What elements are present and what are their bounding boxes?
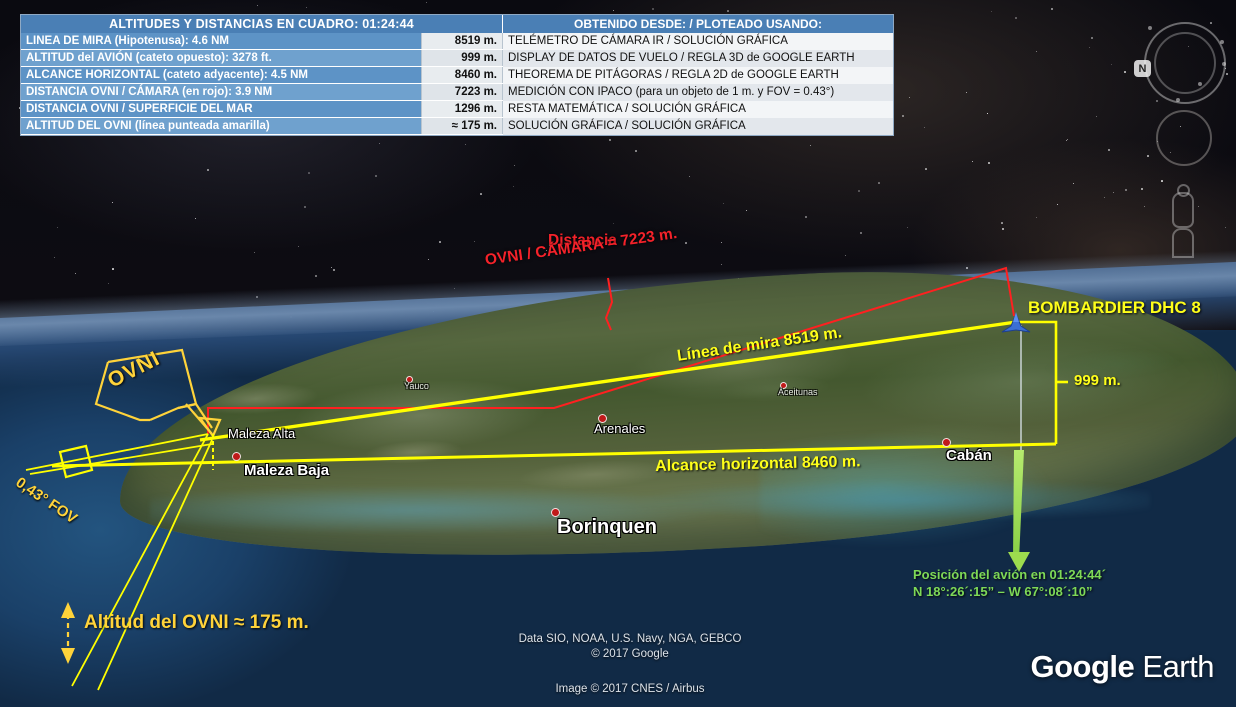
- row-label: LINEA DE MIRA (Hipotenusa): 4.6 NM: [21, 33, 422, 50]
- fov-cone: [26, 434, 212, 690]
- compass-tick: [1198, 82, 1202, 86]
- aircraft-altitude-leg: [1016, 322, 1056, 444]
- compass-tick: [1222, 62, 1226, 66]
- place-dot: [406, 376, 413, 383]
- navigation-controls[interactable]: N: [1132, 14, 1228, 244]
- compass-tick: [1176, 98, 1180, 102]
- row-label: ALCANCE HORIZONTAL (cateto adyacente): 4…: [21, 67, 422, 84]
- google-earth-screenshot: ALTITUDES Y DISTANCIAS EN CUADRO: 01:24:…: [0, 0, 1236, 707]
- row-label: DISTANCIA OVNI / SUPERFICIE DEL MAR: [21, 101, 422, 118]
- row-source: SOLUCIÓN GRÁFICA / SOLUCIÓN GRÁFICA: [503, 118, 894, 135]
- red-leader: [606, 278, 612, 330]
- row-source: RESTA MATEMÁTICA / SOLUCIÓN GRÁFICA: [503, 101, 894, 118]
- row-value: 1296 m.: [422, 101, 503, 118]
- table-header-row: ALTITUDES Y DISTANCIAS EN CUADRO: 01:24:…: [21, 15, 893, 33]
- table-row: LINEA DE MIRA (Hipotenusa): 4.6 NM 8519 …: [21, 33, 893, 50]
- place-dot: [942, 438, 951, 447]
- row-source: MEDICIÓN CON IPACO (para un objeto de 1 …: [503, 84, 894, 101]
- compass-inner-ring[interactable]: [1154, 32, 1216, 94]
- attribution-line2: © 2017 Google: [440, 647, 820, 662]
- google-earth-logo: Google Earth: [1030, 649, 1214, 685]
- place-dot: [780, 382, 787, 389]
- attribution-image: Image © 2017 CNES / Airbus: [440, 682, 820, 697]
- logo-earth: Earth: [1142, 649, 1214, 684]
- table-row: DISTANCIA OVNI / SUPERFICIE DEL MAR 1296…: [21, 101, 893, 118]
- attribution-data: Data SIO, NOAA, U.S. Navy, NGA, GEBCO © …: [440, 632, 820, 662]
- row-value: ≈ 175 m.: [422, 118, 503, 135]
- table-row: ALTITUD DEL OVNI (línea punteada amarill…: [21, 118, 893, 135]
- ovni-altitude-arrow: [61, 602, 75, 664]
- place-dot: [551, 508, 560, 517]
- compass-tick: [1148, 26, 1152, 30]
- row-source: DISPLAY DE DATOS DE VUELO / REGLA 3D de …: [503, 50, 894, 67]
- measurements-table: ALTITUDES Y DISTANCIAS EN CUADRO: 01:24:…: [20, 14, 894, 136]
- row-label: DISTANCIA OVNI / CÁMARA (en rojo): 3.9 N…: [21, 84, 422, 101]
- row-value: 7223 m.: [422, 84, 503, 101]
- attribution-line1: Data SIO, NOAA, U.S. Navy, NGA, GEBCO: [440, 632, 820, 647]
- pegman-icon[interactable]: [1172, 192, 1194, 228]
- aircraft-position-arrowhead: [1008, 552, 1030, 572]
- table-header-right: OBTENIDO DESDE: / PLOTEADO USANDO:: [503, 15, 894, 33]
- row-label: ALTITUD del AVIÓN (cateto opuesto): 3278…: [21, 50, 422, 67]
- table-row: DISTANCIA OVNI / CÁMARA (en rojo): 3.9 N…: [21, 84, 893, 101]
- logo-google: Google: [1030, 649, 1134, 684]
- compass-tick: [1220, 40, 1224, 44]
- row-value: 8460 m.: [422, 67, 503, 84]
- row-source: THEOREMA DE PITÁGORAS / REGLA 2D de GOOG…: [503, 67, 894, 84]
- row-value: 8519 m.: [422, 33, 503, 50]
- compass-north-marker[interactable]: N: [1134, 60, 1151, 77]
- line-of-sight: [200, 322, 1016, 440]
- place-dot: [598, 414, 607, 423]
- zoom-slider[interactable]: [1172, 228, 1194, 258]
- table-header-left: ALTITUDES Y DISTANCIAS EN CUADRO: 01:24:…: [21, 15, 503, 33]
- row-label: ALTITUD DEL OVNI (línea punteada amarill…: [21, 118, 422, 135]
- row-value: 999 m.: [422, 50, 503, 67]
- row-source: TELÉMETRO DE CÁMARA IR / SOLUCIÓN GRÁFIC…: [503, 33, 894, 50]
- aircraft-position-arrow: [1013, 450, 1024, 560]
- zoom-ring[interactable]: [1156, 110, 1212, 166]
- table-row: ALTITUD del AVIÓN (cateto opuesto): 3278…: [21, 50, 893, 67]
- table-row: ALCANCE HORIZONTAL (cateto adyacente): 4…: [21, 67, 893, 84]
- place-dot: [232, 452, 241, 461]
